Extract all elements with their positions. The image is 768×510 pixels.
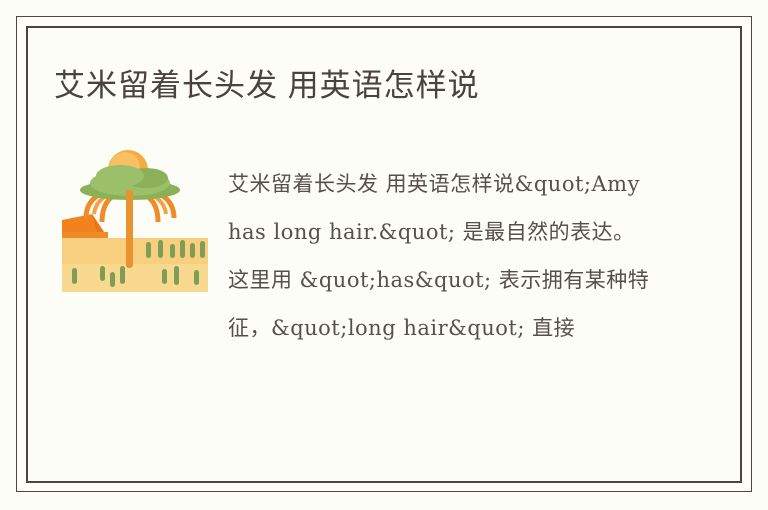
article-card: 艾米留着长头发 用英语怎样说 [0, 0, 768, 510]
page-title: 艾米留着长头发 用英语怎样说 [54, 66, 480, 106]
savanna-tree-illustration [62, 142, 208, 292]
article-body: 艾米留着长头发 用英语怎样说&quot;Amy has long hair.&q… [228, 160, 652, 352]
